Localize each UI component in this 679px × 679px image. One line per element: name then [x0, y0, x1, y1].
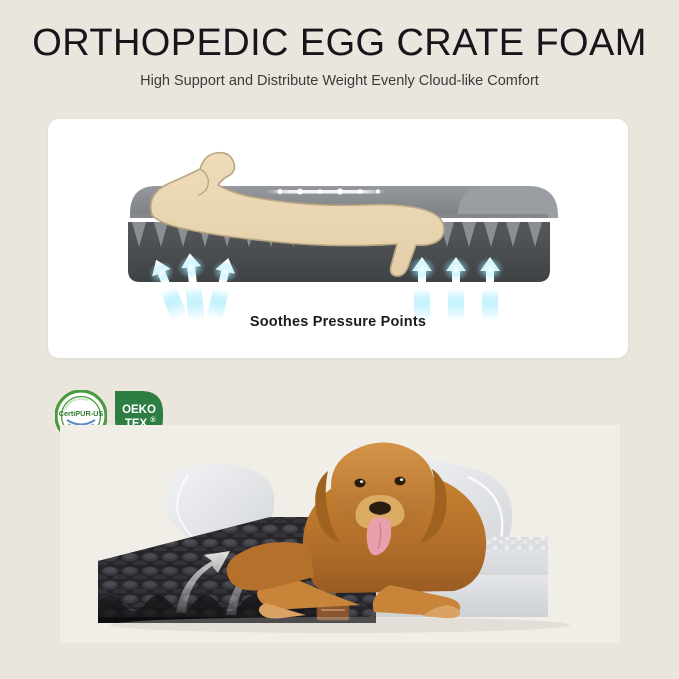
diagram-card: Soothes Pressure Points	[48, 119, 628, 358]
pressure-point-diagram	[48, 119, 628, 319]
spine-glow-line	[266, 190, 386, 194]
dog-eye-right	[395, 477, 406, 486]
oeko-tex-registered-mark: ®	[150, 416, 156, 424]
product-photo	[60, 425, 620, 643]
page-subtitle: High Support and Distribute Weight Evenl…	[0, 70, 679, 92]
dog-eye-left	[355, 479, 366, 488]
certipur-label: CertiPUR-US	[59, 409, 104, 418]
diagram-caption: Soothes Pressure Points	[48, 314, 628, 330]
oeko-tex-line1: OEKO	[122, 404, 156, 416]
pressure-arrows-left	[144, 252, 241, 319]
page-title: ORTHOPEDIC EGG CRATE FOAM	[0, 20, 679, 66]
product-marketing-image: ORTHOPEDIC EGG CRATE FOAM High Support a…	[0, 0, 679, 679]
pressure-arrows-right	[408, 257, 504, 319]
